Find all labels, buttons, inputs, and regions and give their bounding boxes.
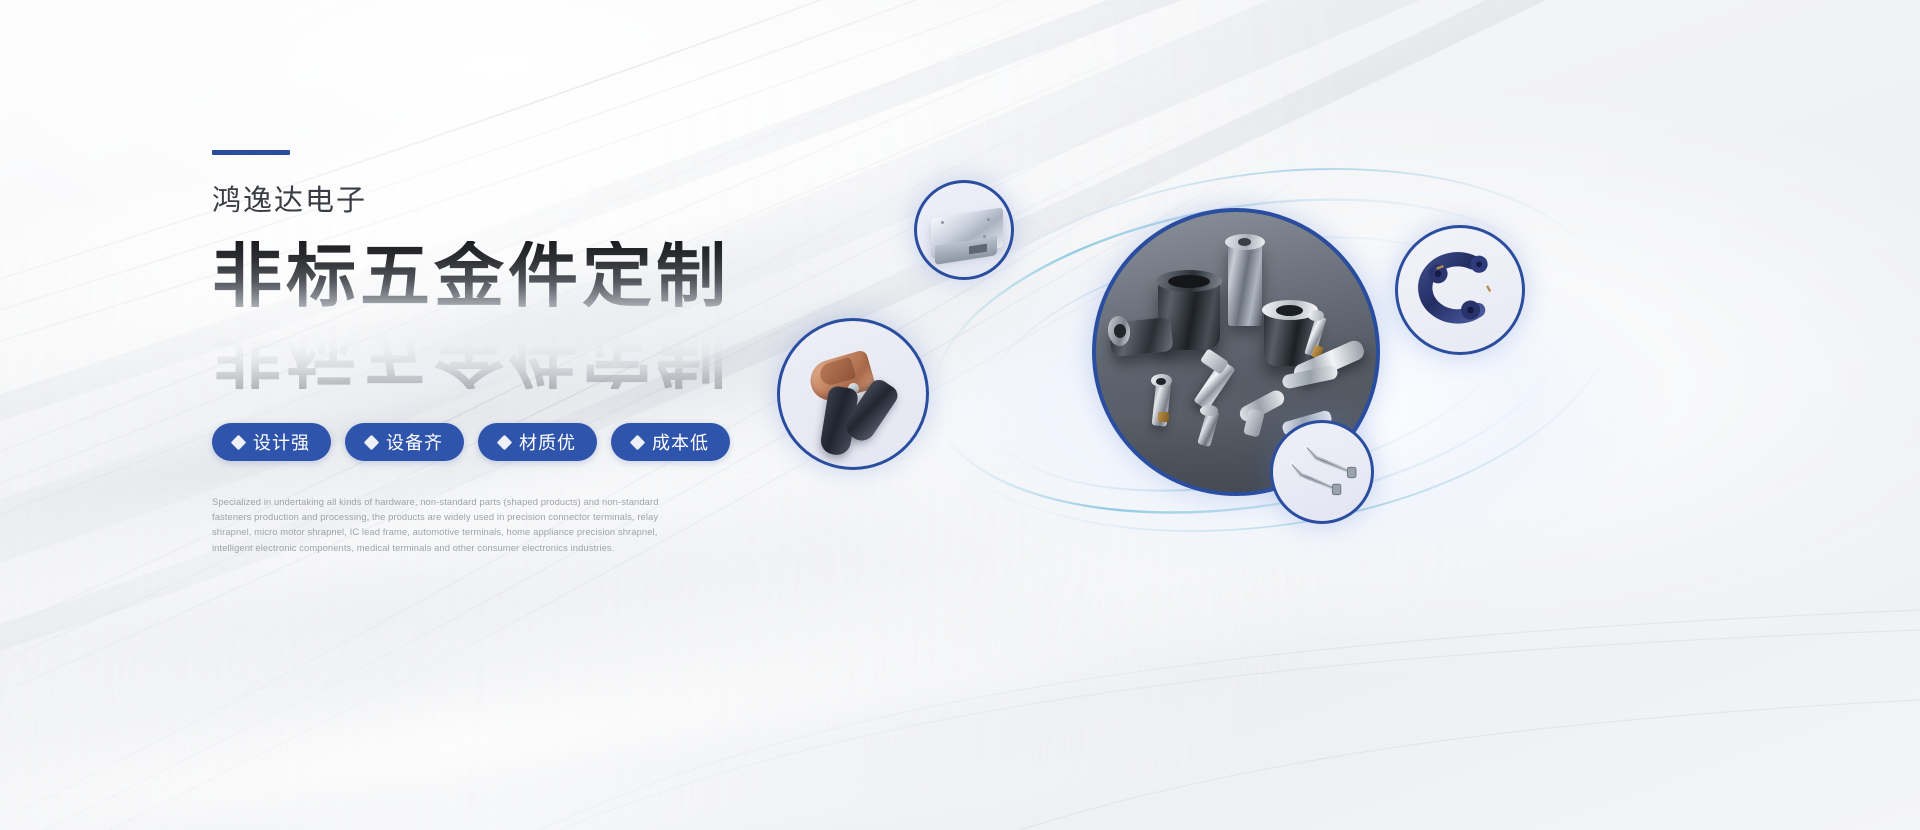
metal-box-screw: [983, 235, 986, 238]
feature-pill-label: 材质优: [519, 429, 576, 455]
part-socket-bore: [1276, 305, 1303, 316]
feature-pill-design[interactable]: 设计强: [212, 423, 331, 461]
feature-pill-group: 设计强 设备齐 材质优 成本低: [212, 423, 832, 461]
hero-copy: 鸿逸达电子 非标五金件定制 非标五金件定制 设计强 设备齐 材质优 成本低: [212, 150, 832, 555]
part-small-pin-a-brass: [1158, 412, 1169, 422]
feature-pill-label: 设计强: [253, 429, 310, 455]
diamond-icon: [630, 434, 646, 450]
accent-rule: [212, 150, 290, 155]
page-title: 非标五金件定制: [212, 241, 832, 311]
part-stud-head: [1308, 310, 1324, 321]
headline-wrap: 非标五金件定制 非标五金件定制: [212, 241, 832, 367]
node-bent-pins[interactable]: [1270, 420, 1374, 524]
part-connector-bore: [1114, 324, 1126, 338]
part-cylinder-bore: [1238, 238, 1251, 246]
product-showcase: [880, 120, 1720, 640]
part-knurled-cylinder: [1228, 242, 1262, 326]
page-title-reflection: 非标五金件定制: [212, 319, 730, 389]
feature-pill-material[interactable]: 材质优: [478, 423, 597, 461]
feature-pill-label: 设备齐: [386, 429, 443, 455]
part-small-pin-a-bore: [1156, 378, 1166, 385]
diamond-icon: [231, 434, 247, 450]
part-sleeve-bore: [1168, 275, 1210, 288]
node-metal-box[interactable]: [914, 180, 1014, 280]
hero-banner: 鸿逸达电子 非标五金件定制 非标五金件定制 设计强 设备齐 材质优 成本低: [0, 0, 1920, 830]
diamond-icon: [364, 434, 380, 450]
feature-pill-label: 成本低: [652, 429, 709, 455]
diamond-icon: [497, 434, 513, 450]
node-battery-clamp[interactable]: [777, 318, 929, 470]
brand-name: 鸿逸达电子: [212, 186, 832, 215]
metal-box-screw: [987, 218, 990, 221]
feature-pill-equipment[interactable]: 设备齐: [345, 423, 464, 461]
metal-box-screw: [941, 221, 944, 224]
feature-pill-cost[interactable]: 成本低: [611, 423, 730, 461]
description-paragraph: Specialized in undertaking all kinds of …: [212, 494, 677, 555]
node-retaining-ring[interactable]: [1395, 225, 1525, 355]
part-small-pin-b-head: [1200, 405, 1218, 416]
